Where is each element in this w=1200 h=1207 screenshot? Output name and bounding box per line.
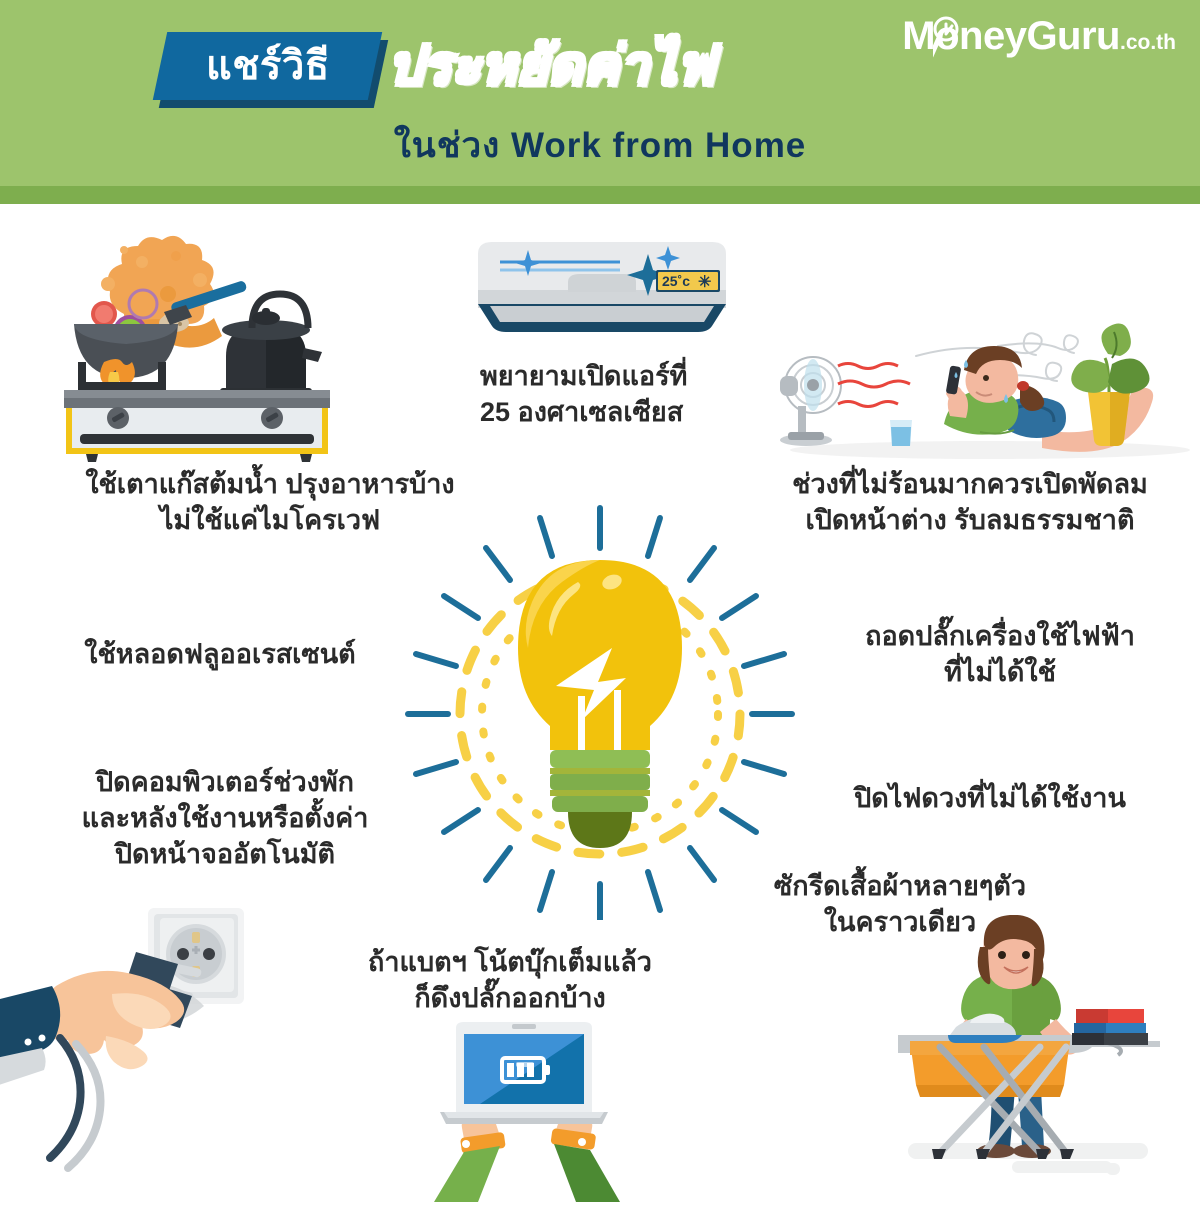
header-bottom-rule (0, 186, 1200, 204)
aircon-temperature-text: 25˚c (662, 273, 690, 289)
share-badge: แชร์วิธี (153, 32, 382, 100)
tip-caption-laptop: ถ้าแบตฯ โน้ตบุ๊กเต็มแล้ว ก็ดึงปลั๊กออกบ้… (330, 944, 690, 1016)
infographic-page: แชร์วิธี ประหยัดค่าไฟ ในช่วง Work from H… (0, 0, 1200, 1200)
air-conditioner-illustration: 25˚c ✳ (472, 238, 732, 353)
page-subtitle: ในช่วง Work from Home (0, 124, 1200, 168)
stove-body (64, 390, 330, 462)
page-title: ประหยัดค่าไฟ (388, 34, 714, 98)
electric-fan-icon (780, 357, 910, 446)
aircon-snowflake-icon: ✳ (698, 274, 711, 291)
ironing-illustration (880, 915, 1200, 1205)
kettle-icon (220, 294, 322, 396)
plug-socket-illustration (0, 890, 286, 1195)
tip-caption-fluorescent: ใช้หลอดฟลูออเรสเซนต์ (40, 636, 400, 672)
fan-scene-illustration (780, 320, 1200, 470)
tip-caption-lights: ปิดไฟดวงที่ไม่ได้ใช้งาน (790, 780, 1190, 816)
folded-clothes-icon (1072, 1009, 1148, 1045)
ironing-board-icon (898, 1035, 1160, 1159)
hands-holding-laptop-icon (434, 1114, 620, 1202)
water-glass-icon (890, 420, 912, 446)
tip-caption-unplug: ถอดปลั๊กเครื่องใช้ไฟฟ้า ที่ไม่ได้ใช้ (800, 618, 1200, 690)
bulb-icon (518, 560, 682, 848)
laptop-illustration (404, 1022, 684, 1207)
tip-caption-computer: ปิดคอมพิวเตอร์ช่วงพัก และหลังใช้งานหรือต… (40, 764, 410, 872)
badge-label: แชร์วิธี (206, 46, 330, 86)
laptop-icon (440, 1022, 608, 1124)
magnifier-icon: o (935, 12, 959, 60)
light-bulb-illustration (400, 500, 800, 925)
aircon-display: 25˚c ✳ (656, 270, 720, 292)
gas-stove-illustration (50, 232, 350, 467)
moneyguru-logo[interactable]: MoneyGuru.co.th (902, 12, 1176, 67)
tip-caption-fan: ช่วงที่ไม่ร้อนมากควรเปิดพัดลม เปิดหน้าต่… (740, 466, 1200, 538)
tip-caption-aircon: พยายามเปิดแอร์ที่ 25 องศาเซลเซียส (440, 358, 810, 430)
logo-tld: .co.th (1120, 31, 1176, 54)
logo-wordmark: MoneyGuru (902, 14, 1120, 58)
